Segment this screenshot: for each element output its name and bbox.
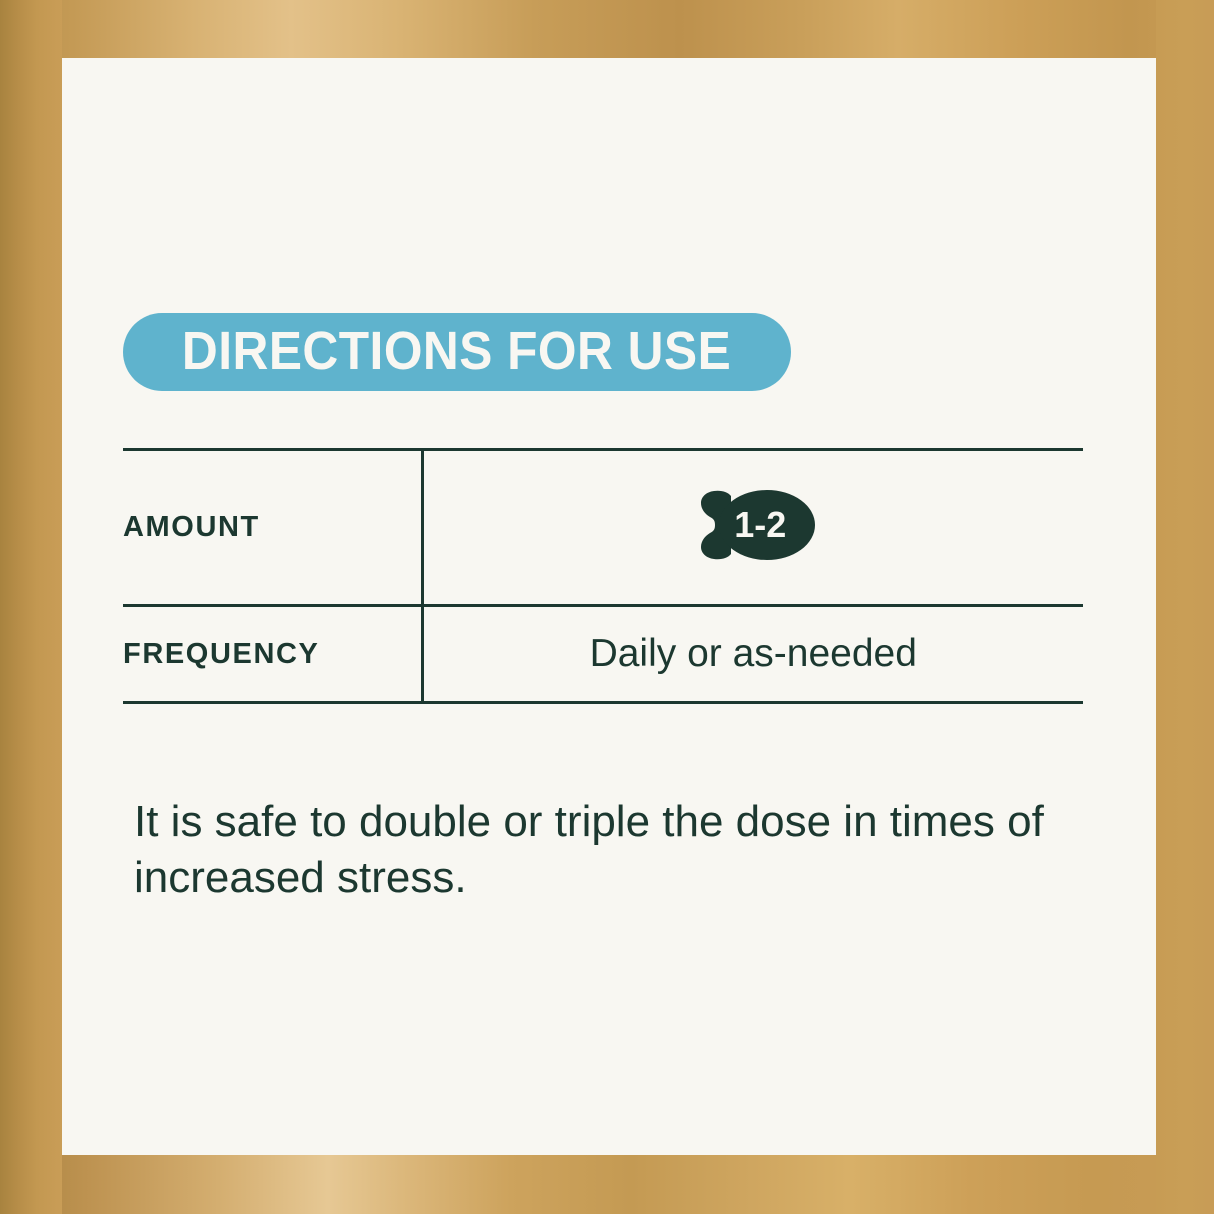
dosage-note: It is safe to double or triple the dose …	[134, 794, 1074, 906]
product-label-frame: DIRECTIONS FOR USE AMOUNT 1-2	[0, 0, 1214, 1214]
gold-border-top	[0, 0, 1214, 58]
table-cell-value-frequency: Daily or as-needed	[422, 606, 1083, 703]
gold-border-left	[0, 0, 62, 1214]
directions-header-label: DIRECTIONS FOR USE	[182, 324, 731, 381]
content-panel: DIRECTIONS FOR USE AMOUNT 1-2	[62, 58, 1156, 1155]
row-label-amount: AMOUNT	[123, 511, 260, 543]
gold-border-right	[1156, 0, 1214, 1214]
table-cell-value-amount: 1-2	[422, 450, 1083, 606]
table-cell-label-amount: AMOUNT	[123, 450, 422, 606]
directions-table: AMOUNT 1-2 FREQUENCY D	[123, 448, 1083, 704]
row-value-frequency: Daily or as-needed	[590, 632, 917, 675]
table-cell-label-frequency: FREQUENCY	[123, 606, 422, 703]
gold-border-bottom	[0, 1155, 1214, 1214]
row-label-frequency: FREQUENCY	[123, 638, 319, 670]
fish-badge-value: 1-2	[688, 489, 818, 561]
table-row: AMOUNT 1-2	[123, 450, 1083, 606]
table-row: FREQUENCY Daily or as-needed	[123, 606, 1083, 703]
directions-header-pill: DIRECTIONS FOR USE	[123, 313, 791, 391]
fish-badge: 1-2	[688, 489, 818, 561]
